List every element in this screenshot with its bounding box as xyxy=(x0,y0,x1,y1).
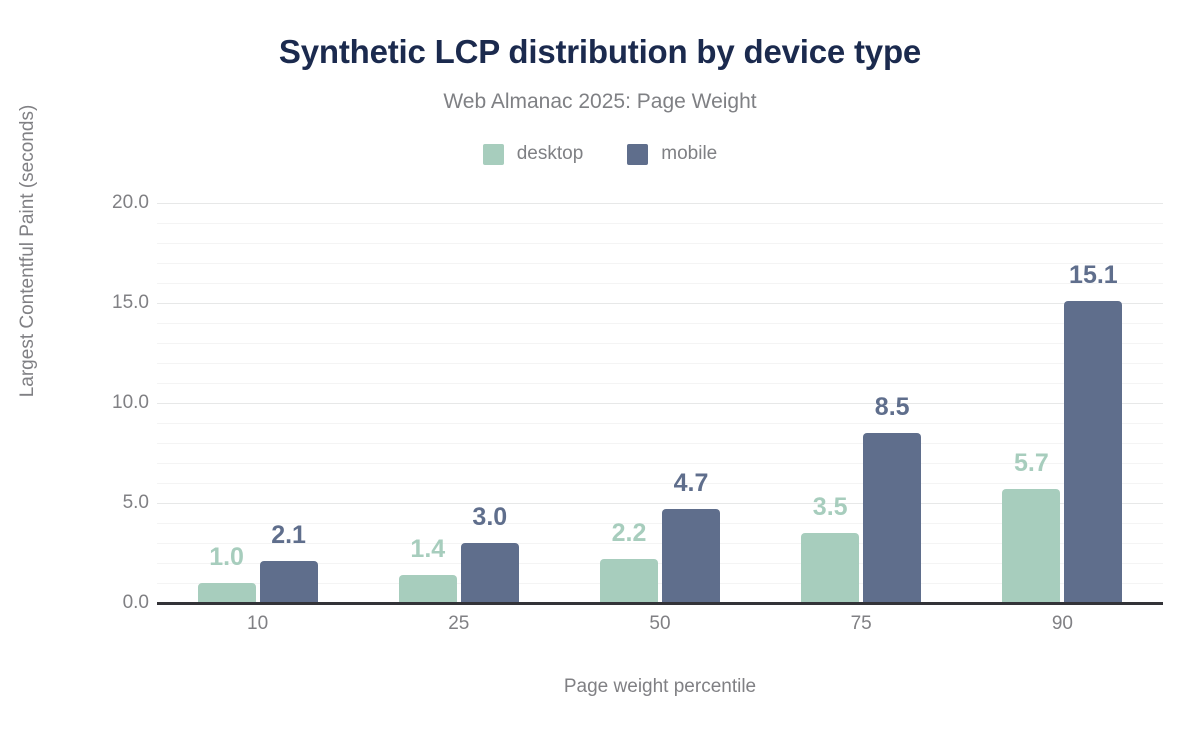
y-axis-tick-label: 5.0 xyxy=(123,492,149,514)
gridline-minor xyxy=(157,423,1163,424)
x-axis-tick-label: 90 xyxy=(1052,613,1073,635)
bar-value-label-desktop-75: 3.5 xyxy=(813,493,848,522)
bar-value-label-mobile-25: 3.0 xyxy=(472,503,507,532)
x-axis-tick-label: 50 xyxy=(649,613,670,635)
bar-value-label-desktop-10: 1.0 xyxy=(209,543,244,572)
x-axis-title: Page weight percentile xyxy=(157,676,1163,698)
gridline-minor xyxy=(157,223,1163,224)
chart-figure: Synthetic LCP distribution by device typ… xyxy=(0,0,1200,742)
x-axis-tick-label: 10 xyxy=(247,613,268,635)
gridline-minor xyxy=(157,483,1163,484)
bar-mobile-90[interactable] xyxy=(1064,301,1122,603)
bar-value-label-mobile-50: 4.7 xyxy=(674,469,709,498)
gridline-minor xyxy=(157,243,1163,244)
y-axis-tick-label: 0.0 xyxy=(123,592,149,614)
legend-item-desktop[interactable]: desktop xyxy=(483,143,584,165)
bar-mobile-50[interactable] xyxy=(662,509,720,603)
bar-desktop-75[interactable] xyxy=(801,533,859,603)
gridline-minor xyxy=(157,343,1163,344)
y-axis-tick-label: 15.0 xyxy=(112,292,149,314)
bar-value-label-mobile-75: 8.5 xyxy=(875,393,910,422)
plot-area: 1.02.11.43.02.24.73.58.55.715.1 xyxy=(157,203,1163,603)
x-axis-line xyxy=(157,602,1163,605)
gridline-major xyxy=(157,203,1163,204)
y-axis-tick-label: 10.0 xyxy=(112,392,149,414)
bar-value-label-mobile-10: 2.1 xyxy=(271,521,306,550)
legend-swatch-icon-desktop xyxy=(483,144,504,165)
x-axis-tick-label: 25 xyxy=(448,613,469,635)
gridline-minor xyxy=(157,263,1163,264)
legend-swatch-icon-mobile xyxy=(627,144,648,165)
gridline-minor xyxy=(157,463,1163,464)
legend-label-mobile: mobile xyxy=(661,143,717,165)
gridline-major xyxy=(157,403,1163,404)
x-axis-tick-labels: 1025507590 xyxy=(157,613,1163,643)
bar-mobile-75[interactable] xyxy=(863,433,921,603)
bar-desktop-10[interactable] xyxy=(198,583,256,603)
gridline-minor xyxy=(157,443,1163,444)
bar-mobile-25[interactable] xyxy=(461,543,519,603)
bar-desktop-25[interactable] xyxy=(399,575,457,603)
gridline-minor xyxy=(157,363,1163,364)
legend-label-desktop: desktop xyxy=(517,143,584,165)
legend-item-mobile[interactable]: mobile xyxy=(627,143,717,165)
gridline-minor xyxy=(157,283,1163,284)
gridline-minor xyxy=(157,323,1163,324)
chart-subtitle: Web Almanac 2025: Page Weight xyxy=(0,90,1200,114)
bar-value-label-desktop-25: 1.4 xyxy=(410,535,445,564)
bar-desktop-90[interactable] xyxy=(1002,489,1060,603)
bar-value-label-mobile-90: 15.1 xyxy=(1069,261,1118,290)
bar-mobile-10[interactable] xyxy=(260,561,318,603)
gridline-minor xyxy=(157,383,1163,384)
x-axis-tick-label: 75 xyxy=(851,613,872,635)
bar-value-label-desktop-90: 5.7 xyxy=(1014,449,1049,478)
bar-value-label-desktop-50: 2.2 xyxy=(612,519,647,548)
y-axis-tick-label: 20.0 xyxy=(112,192,149,214)
bar-desktop-50[interactable] xyxy=(600,559,658,603)
y-axis-title: Largest Contentful Paint (seconds) xyxy=(17,41,39,461)
chart-legend: desktopmobile xyxy=(0,143,1200,165)
gridline-major xyxy=(157,303,1163,304)
chart-title: Synthetic LCP distribution by device typ… xyxy=(0,33,1200,71)
